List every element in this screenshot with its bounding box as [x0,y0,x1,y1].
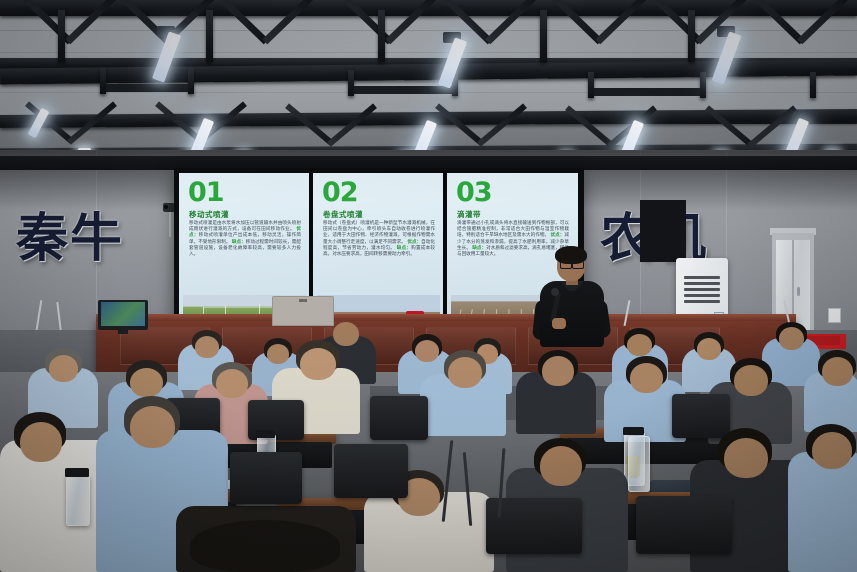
audience-head [724,438,768,478]
slide-disadvantage-label-2: 缺点： [397,246,411,251]
control-monitor-screen[interactable] [101,302,145,326]
monitor-stand [118,330,128,334]
wall-switch-plate[interactable] [828,308,841,323]
audience-head [333,322,359,346]
slide-number-1: 01 [188,179,224,206]
door-handle-icon[interactable] [797,287,800,296]
audience-hair [190,520,340,572]
slide-heading-2: 卷盘式喷灌 [323,209,363,220]
bulkhead-beam [0,156,857,170]
slide-disadvantage-label-1: 缺点： [232,240,246,245]
audience-chair [230,452,302,504]
wall-sign-left: 秦牛 [16,196,124,271]
camera-mount-arm [169,211,171,237]
audience-head [130,368,163,397]
audience-head [779,327,804,350]
slide-heading-1: 移动式喷灌 [189,209,229,220]
audience-head [697,338,721,360]
microphone-head-icon [551,288,559,296]
bottle-cap-icon [623,427,644,435]
bottle-cap-icon [65,468,89,477]
water-bottle[interactable] [66,474,90,526]
audience-chair [370,396,428,440]
audience-head [627,334,652,356]
slide-disadvantage-label-3: 缺点： [472,246,486,251]
audience-head [630,363,663,393]
camera-lens-icon [164,205,168,209]
audience-head [448,357,482,388]
glasses-icon [560,261,572,269]
audience-head [49,355,78,382]
audience-head [540,446,582,486]
lecture-hall-photo: 秦牛 农机 01 移动式喷灌 移动式喷灌是由水泵将水加压以管道输水并由喷头喷射成… [0,0,857,572]
slide-number-2: 02 [322,179,358,206]
presenter-hand [552,318,566,329]
audience-chair [636,496,732,554]
slide-number-3: 03 [456,179,492,206]
slide-advantage-label-2: 优点： [407,240,421,245]
audience-chair [672,394,730,438]
slide-body-1: 移动式喷灌是由水泵将水加压以管道输水并由喷头喷射成雨状进行灌溉的方式，设备可在田… [189,221,301,258]
laptop-camera-icon [299,299,307,302]
audience-head [20,422,62,462]
slide-advantage-label-3: 优点： [551,233,565,238]
audience-head [734,365,768,396]
audience-head [300,348,336,380]
slide-body-text-1: 移动式喷灌是由水泵将水加压以管道输水并由喷头喷射成雨状进行灌溉的方式，设备可在田… [189,221,301,232]
audience-head [130,406,175,448]
audience-chair [334,444,408,498]
audience-head [195,336,219,358]
audience-head [812,432,852,469]
slide-heading-3: 滴灌带 [457,209,481,220]
glasses-icon [572,261,584,269]
audience-head [542,356,574,386]
front-desk-top-edge [96,314,796,321]
audience-head [415,340,439,362]
audience-torso [788,452,857,572]
audience-head [216,369,248,398]
slide-body-2: 移动式（卷盘式）喷灌机是一种新型节水灌溉机械，在田间以卷盘为中心，牵引喷头车自动… [323,221,435,258]
audience-head [267,344,289,364]
audience-head [822,357,853,386]
projector-speaker-box [640,200,686,262]
slide-body-3: 滴灌带通过小孔或滴头将水直接输送到作物根部，可以结合施肥精准控制，非常适合大田作… [457,221,569,258]
bottle-cap-icon [256,430,275,438]
tea-flask[interactable] [628,436,650,492]
